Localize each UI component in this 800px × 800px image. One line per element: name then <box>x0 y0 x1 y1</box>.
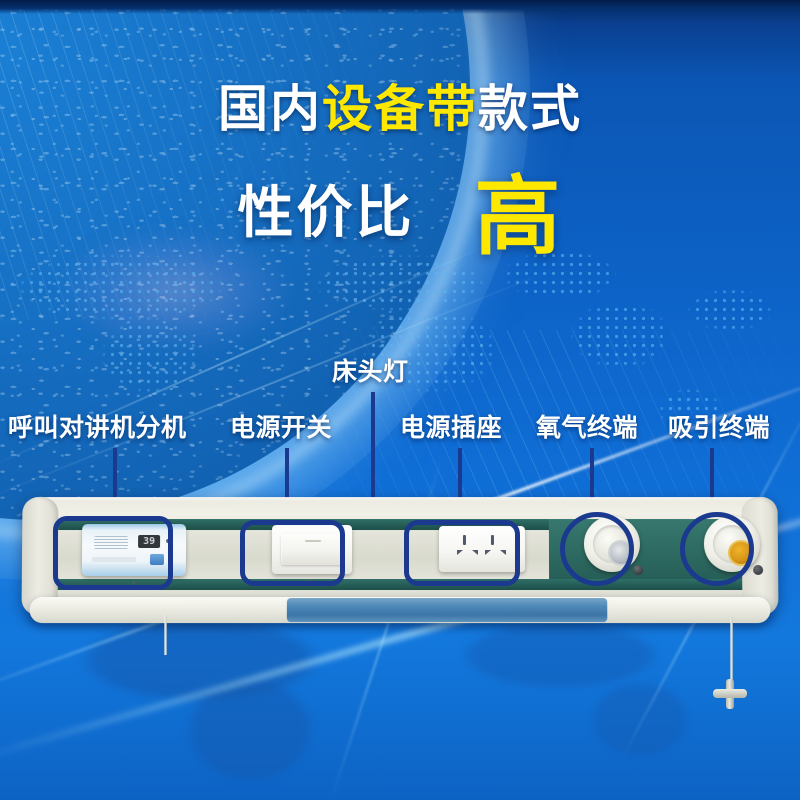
top-dark-band <box>0 0 800 14</box>
world-silhouette <box>0 600 800 800</box>
poster-headline: 国内设备带款式 <box>0 84 800 134</box>
label-suction-outlet: 吸引终端 <box>668 416 770 441</box>
label-power-socket: 电源插座 <box>400 416 502 441</box>
lens-flare <box>60 230 290 350</box>
callout-box-intercom <box>53 516 173 590</box>
earth-globe <box>0 0 470 520</box>
handle-horizontal-bar <box>713 689 747 698</box>
callout-circle-oxygen <box>560 512 634 586</box>
subheadline-text: 性价比 <box>238 181 415 244</box>
product-poster: 国内设备带款式 性价比高 呼叫对讲机分机 电源开关 床头灯 电源插座 氧气终端 … <box>0 0 800 800</box>
callout-circle-suction <box>680 512 754 586</box>
headline-part1: 国内 <box>218 81 322 137</box>
panel-rail-blue-insert <box>287 598 607 622</box>
suction-terminal-port <box>753 565 763 575</box>
callout-box-switch <box>240 520 345 586</box>
earth-cloud-texture <box>0 0 470 520</box>
pull-cord[interactable] <box>730 617 733 685</box>
headline-part2: 款式 <box>478 81 582 137</box>
label-oxygen-outlet: 氧气终端 <box>536 416 638 441</box>
pull-cord-handle[interactable] <box>713 679 747 709</box>
callout-box-socket <box>404 520 520 586</box>
headline-accent: 设备带 <box>322 81 478 137</box>
label-call-intercom: 呼叫对讲机分机 <box>8 416 187 441</box>
subheadline-emphasis: 高 <box>475 169 563 265</box>
light-streak <box>0 268 555 502</box>
cord-left <box>164 615 167 655</box>
label-bedside-lamp: 床头灯 <box>332 360 409 385</box>
label-power-switch: 电源开关 <box>230 416 332 441</box>
oxygen-terminal-port <box>633 565 643 575</box>
poster-subheadline: 性价比高 <box>0 160 800 246</box>
